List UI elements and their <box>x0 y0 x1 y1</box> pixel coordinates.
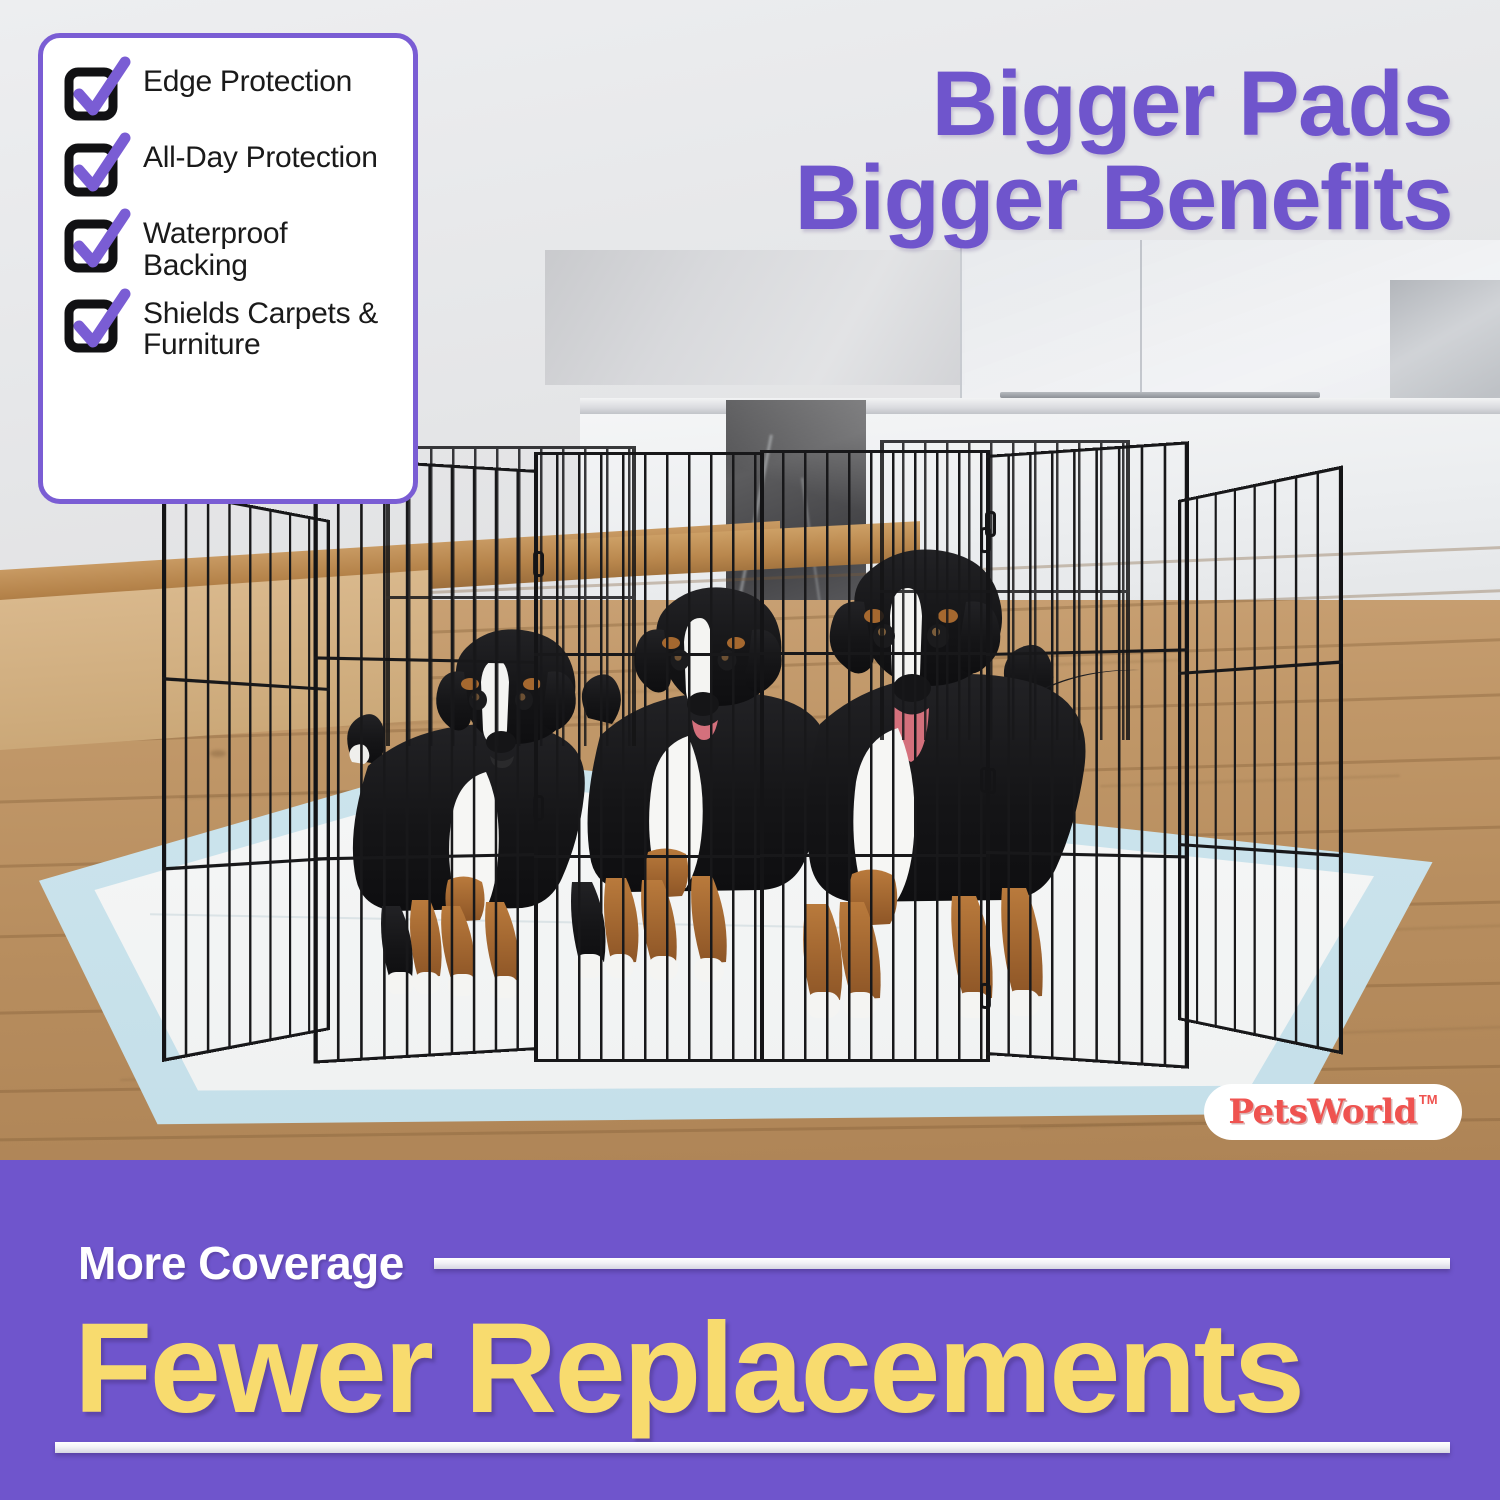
checkbox-check-icon <box>65 142 129 202</box>
trademark-symbol: TM <box>1419 1092 1438 1107</box>
pen-panel-back-right <box>880 440 1130 740</box>
feature-item: All-Day Protection <box>65 140 395 202</box>
banner-eyebrow-row: More Coverage <box>78 1232 1450 1294</box>
headline-line-2: Bigger Benefits <box>732 152 1452 246</box>
feature-label: Edge Protection <box>143 64 352 98</box>
checkbox-check-icon <box>65 66 129 126</box>
feature-item: Shields Carpets & Furniture <box>65 296 395 362</box>
brand-name: PetsWorld <box>1228 1092 1416 1132</box>
feature-label: Shields Carpets & Furniture <box>143 296 395 362</box>
checkbox-check-icon <box>65 298 129 358</box>
headline-line-1: Bigger Pads <box>732 58 1452 152</box>
feature-item: Waterproof Backing <box>65 216 395 282</box>
main-headline: Bigger Pads Bigger Benefits <box>732 58 1452 246</box>
pen-panel-right-far <box>1178 465 1343 1054</box>
banner-headline-text: Fewer Replacements <box>74 1305 1456 1433</box>
bottom-banner: More Coverage Fewer Replacements <box>0 1160 1500 1500</box>
banner-rule-top <box>434 1258 1450 1269</box>
petsworld-logo: PetsWorld TM <box>1204 1084 1462 1140</box>
feature-label: Waterproof Backing <box>143 216 395 282</box>
pen-panel-left-far <box>162 488 330 1062</box>
pen-hinge-icon <box>980 767 991 793</box>
checkbox-check-icon <box>65 218 129 278</box>
feature-label: All-Day Protection <box>143 140 378 174</box>
pen-panel-back-left <box>386 446 636 746</box>
feature-list-card: Edge Protection All-Day Protection Water… <box>38 33 418 504</box>
pen-hinge-icon <box>980 983 991 1010</box>
banner-rule-bottom <box>55 1442 1450 1453</box>
feature-item: Edge Protection <box>65 64 395 126</box>
banner-eyebrow-text: More Coverage <box>78 1236 404 1290</box>
